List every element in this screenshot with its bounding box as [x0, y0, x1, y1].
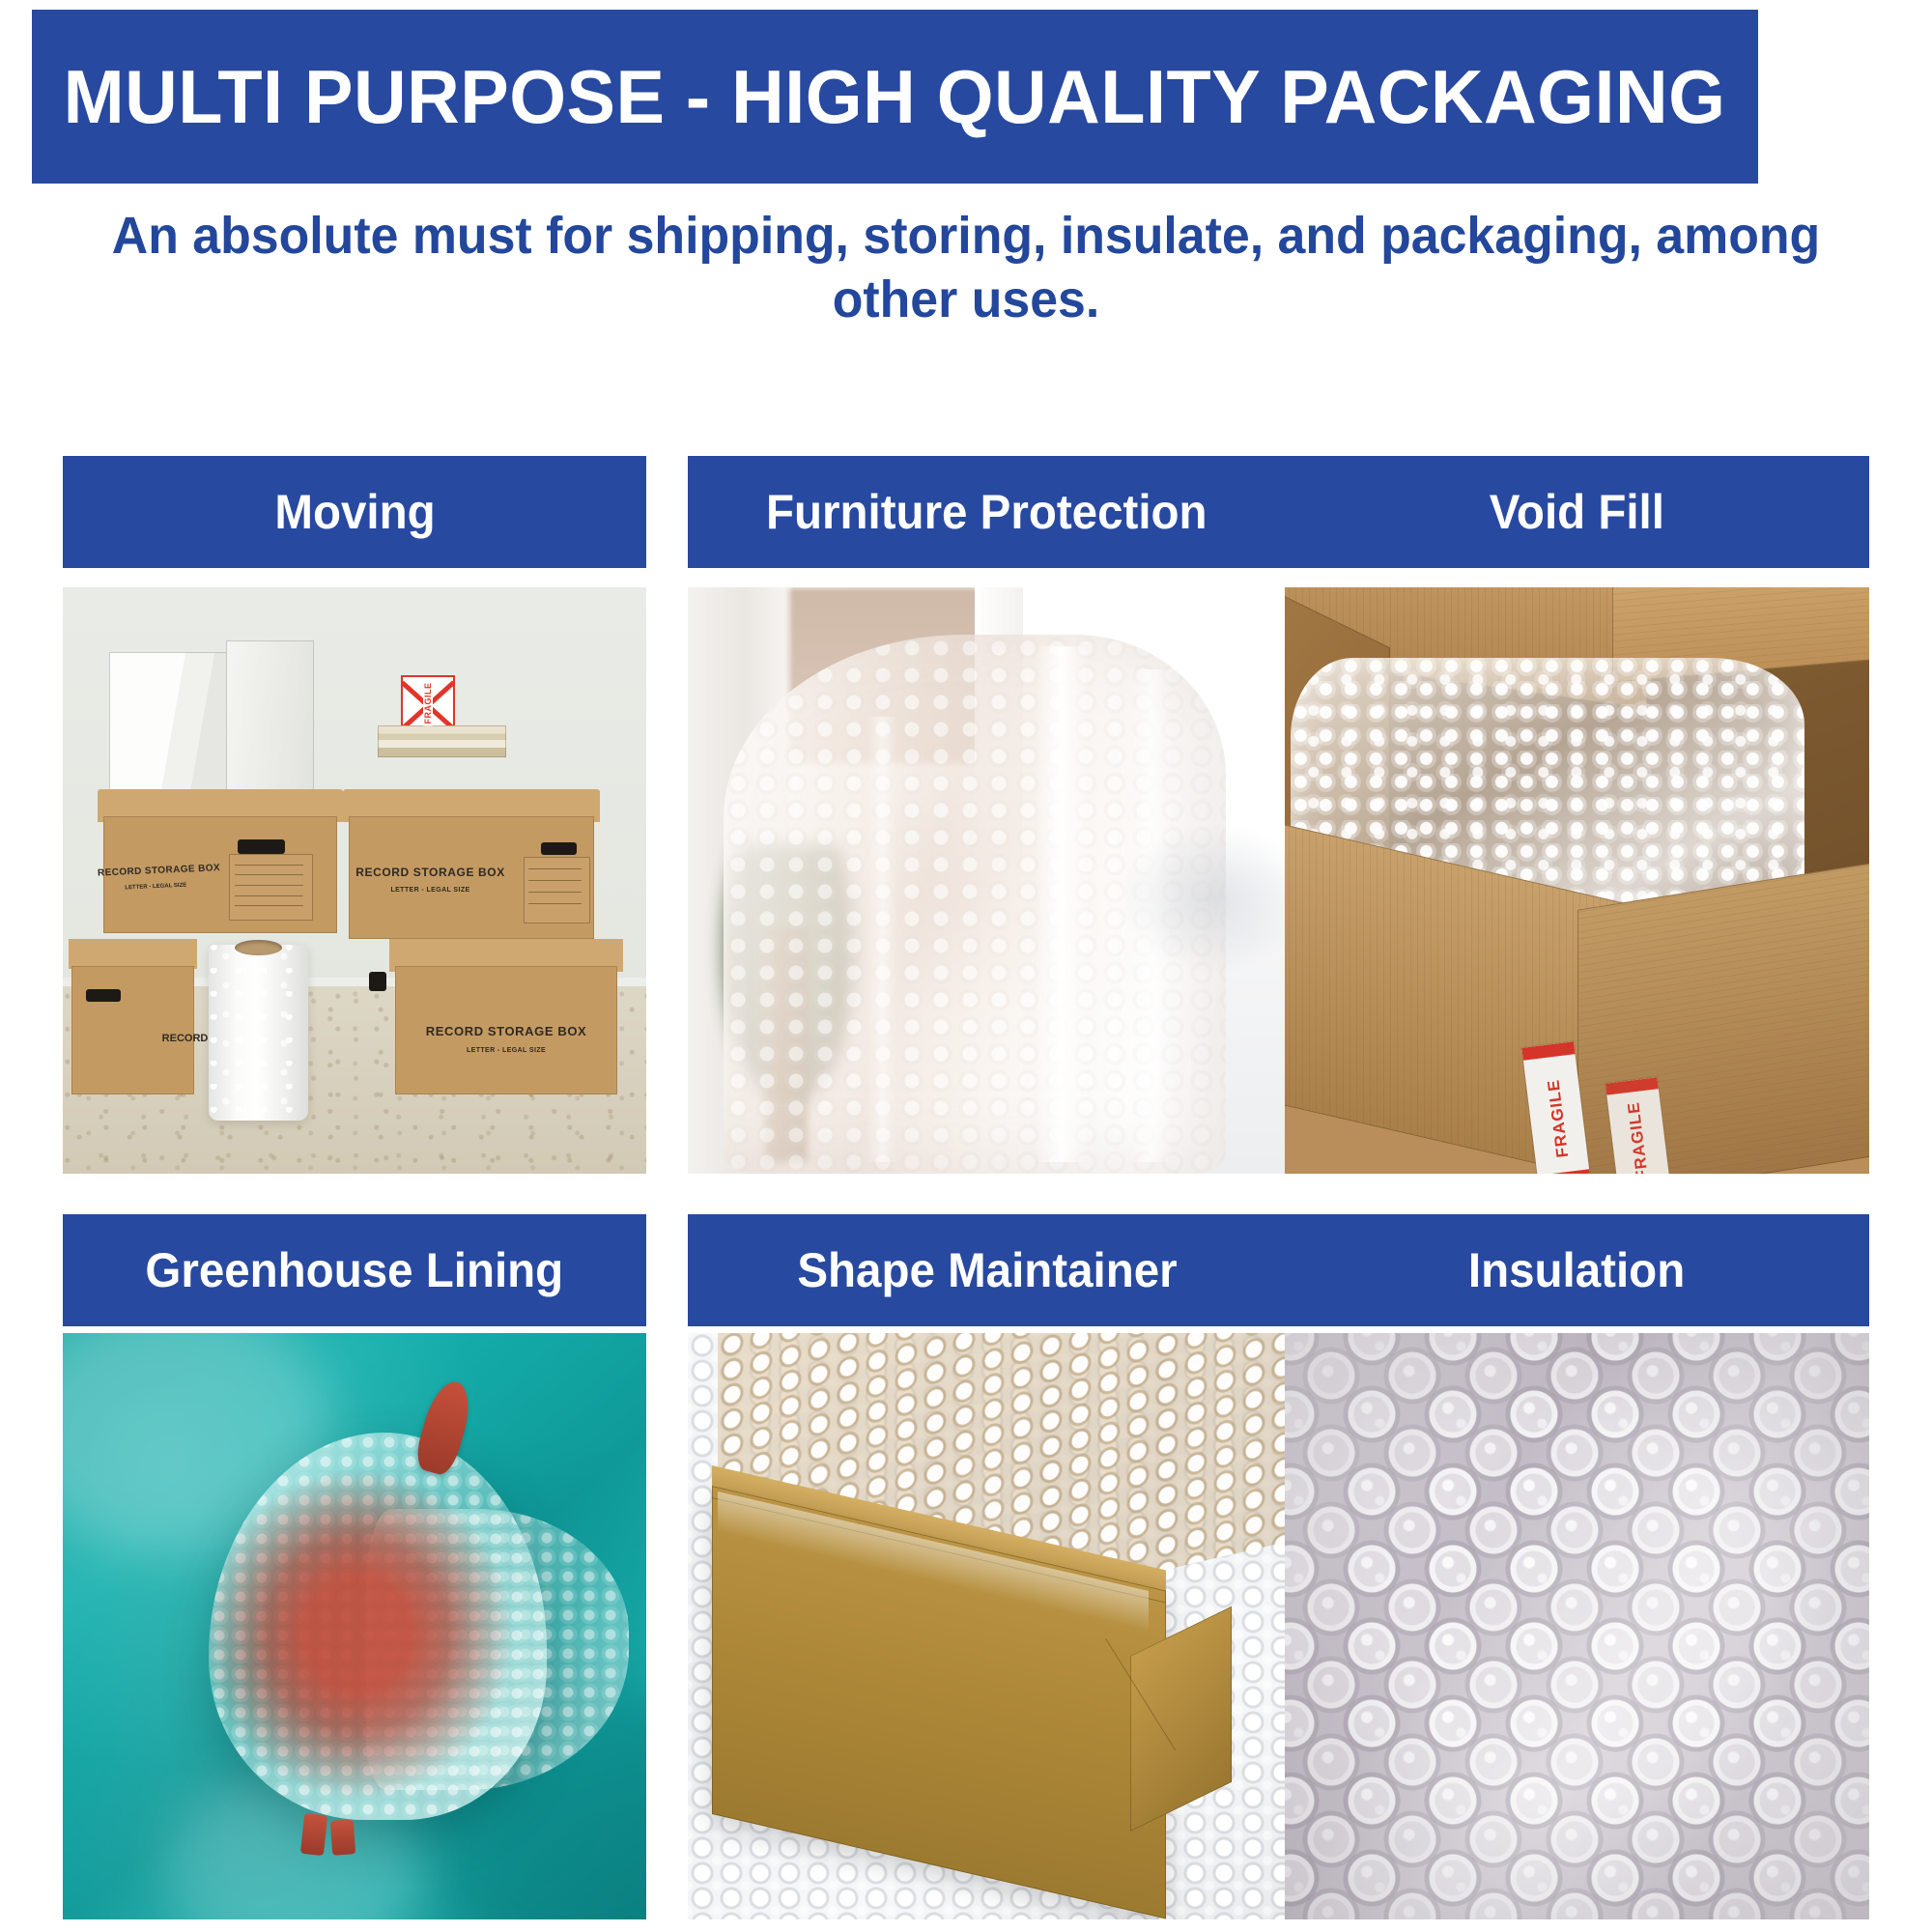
card-image-shape-maintainer [688, 1333, 1286, 1919]
use-case-grid: Moving FRAGILE RECORD STORAGE BOX LETTER… [0, 0, 1932, 1932]
card-image-greenhouse-lining [63, 1333, 646, 1919]
card-void-fill[interactable]: Void Fill [1285, 456, 1869, 1042]
card-label-greenhouse-lining: Greenhouse Lining [146, 1246, 564, 1294]
apple-base-left [299, 1813, 327, 1857]
card-header-void-fill: Void Fill [1285, 456, 1869, 568]
vignette [1285, 1333, 1869, 1919]
fragile-tape-text: FRAGILE [1545, 1079, 1574, 1159]
card-label-void-fill: Void Fill [1490, 488, 1664, 536]
box-handle-lower-right [369, 972, 386, 992]
fragile-tape-2-text: FRAGILE [1624, 1101, 1653, 1174]
box-handle-upper-left [238, 839, 284, 854]
fragile-sticker: FRAGILE [401, 675, 454, 732]
drape-fold-3 [867, 717, 897, 1162]
card-furniture-protection[interactable]: Furniture Protection [688, 456, 1286, 1042]
box-text-lower-right-secondary: LETTER - LEGAL SIZE [442, 1047, 571, 1054]
card-header-insulation: Insulation [1285, 1214, 1869, 1326]
box-form-label-left [229, 854, 313, 921]
card-image-insulation [1285, 1333, 1869, 1919]
box-lid-lower-left [69, 939, 197, 968]
card-label-moving: Moving [274, 488, 435, 536]
box-text-upper-right-secondary: LETTER - LEGAL SIZE [378, 887, 483, 894]
box-text-lower-right-primary: RECORD STORAGE BOX [407, 1024, 605, 1038]
card-header-greenhouse-lining: Greenhouse Lining [63, 1214, 646, 1326]
apple-base-right [330, 1819, 356, 1856]
card-header-furniture-protection: Furniture Protection [688, 456, 1286, 568]
card-image-furniture-protection [688, 587, 1286, 1174]
card-label-furniture-protection: Furniture Protection [766, 488, 1207, 536]
drape-fold-1 [1035, 646, 1089, 1162]
stacked-books [378, 725, 506, 757]
tape-stripe-2 [1538, 1169, 1592, 1174]
bubble-wrap-roll [209, 945, 308, 1121]
card-insulation[interactable]: Insulation [1285, 1214, 1869, 1801]
box-handle-lower-left [86, 989, 121, 1002]
card-moving[interactable]: Moving FRAGILE RECORD STORAGE BOX LETTER… [63, 456, 646, 1042]
box-lower-left [71, 966, 194, 1095]
card-header-shape-maintainer: Shape Maintainer [688, 1214, 1286, 1326]
card-label-insulation: Insulation [1468, 1246, 1685, 1294]
card-label-shape-maintainer: Shape Maintainer [797, 1246, 1177, 1294]
card-header-moving: Moving [63, 456, 646, 568]
card-image-void-fill: FRAGILE FRAGILE [1285, 587, 1869, 1174]
white-box-flap [226, 640, 314, 793]
card-image-moving: FRAGILE RECORD STORAGE BOX LETTER - LEGA… [63, 587, 646, 1174]
card-greenhouse-lining[interactable]: Greenhouse Lining [63, 1214, 646, 1801]
box-text-upper-right-primary: RECORD STORAGE BOX [355, 866, 506, 879]
card-shape-maintainer[interactable]: Shape Maintainer [688, 1214, 1286, 1801]
box-form-label-right [524, 857, 589, 923]
box-handle-upper-right [541, 842, 576, 855]
fragile-sticker-text: FRAGILE [423, 681, 433, 726]
